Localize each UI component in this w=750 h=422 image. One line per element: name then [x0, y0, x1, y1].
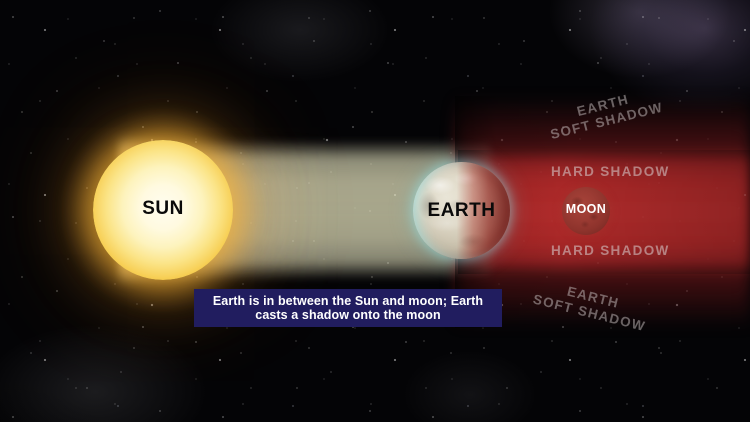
caption-banner: Earth is in between the Sun and moon; Ea… — [194, 289, 502, 327]
hard-shadow-label-top: HARD SHADOW — [551, 164, 670, 179]
caption-text: Earth is in between the Sun and moon; Ea… — [202, 294, 494, 323]
earth-label: EARTH — [413, 200, 510, 222]
moon-label: MOON — [562, 202, 610, 216]
hard-shadow-label-bottom: HARD SHADOW — [551, 243, 670, 258]
sun-label: SUN — [93, 198, 233, 220]
lunar-eclipse-diagram: SUN EARTH MOON HARD SHADOW HARD SHADOW E… — [0, 0, 750, 422]
